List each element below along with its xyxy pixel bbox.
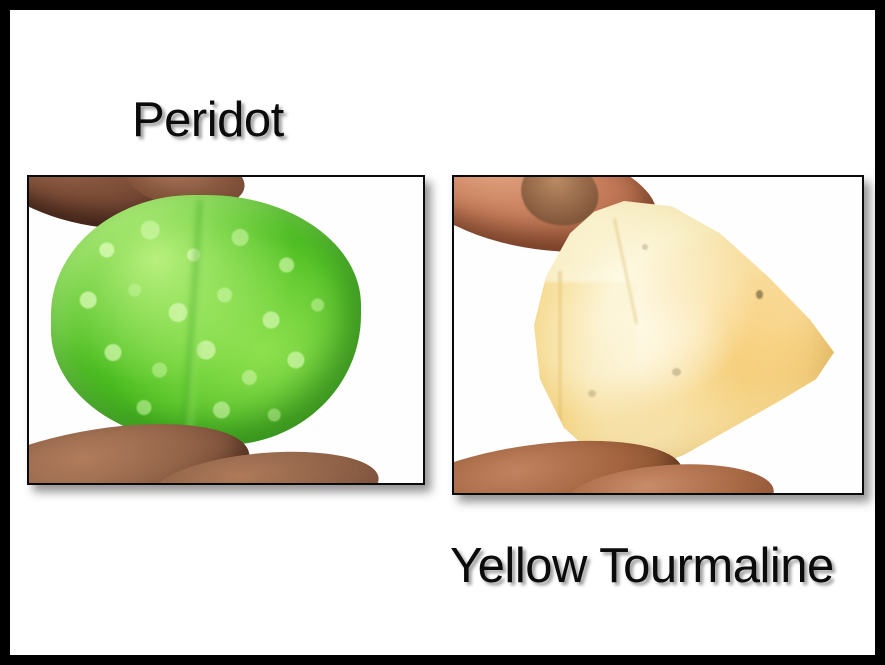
peridot-photo [29, 177, 423, 483]
tourmaline-photo-frame [452, 175, 864, 495]
crystal-inclusion [588, 390, 596, 397]
tourmaline-photo [454, 177, 862, 493]
crystal-facet-edge [558, 271, 562, 438]
peridot-gem [51, 195, 361, 445]
crystal-inclusion [642, 244, 648, 250]
slide-content-area: Peridot [10, 10, 875, 655]
crystal-facet-edge [613, 218, 638, 324]
tourmaline-gem [534, 201, 834, 471]
gemstone-comparison-slide: Peridot [0, 0, 885, 665]
crystal-inclusion [756, 290, 763, 299]
peridot-title: Peridot [132, 96, 284, 145]
tourmaline-title: Yellow Tourmaline [450, 542, 834, 591]
crystal-inclusion [672, 368, 681, 376]
peridot-photo-frame [27, 175, 425, 485]
